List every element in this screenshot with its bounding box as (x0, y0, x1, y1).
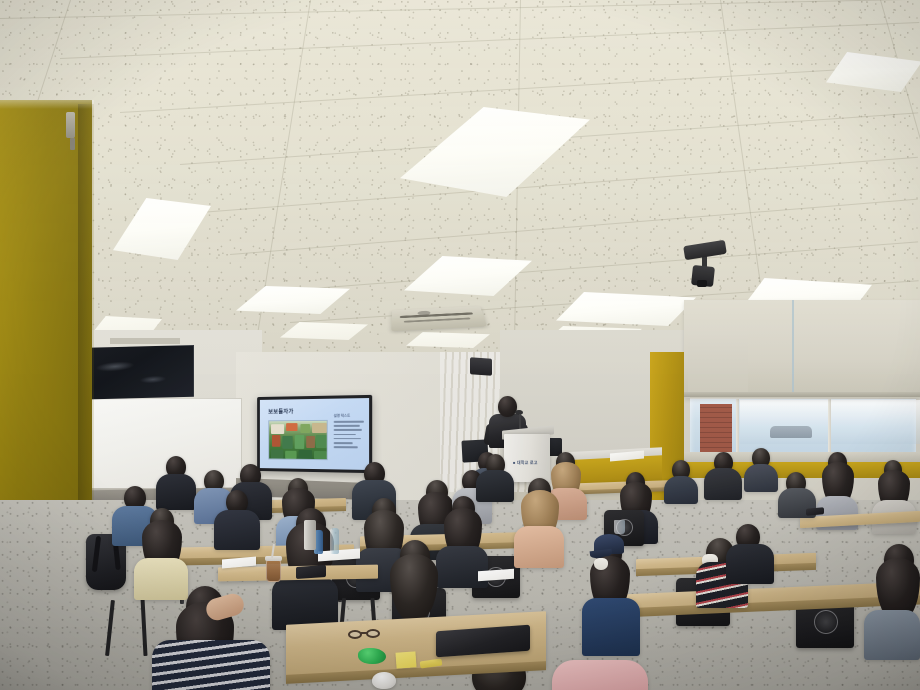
student-body (436, 546, 488, 588)
student-body (156, 474, 196, 510)
eyeglasses-lens (366, 629, 380, 638)
student-body (726, 544, 774, 584)
slide-photo (268, 420, 327, 460)
roller-blind-secondary[interactable] (688, 330, 748, 392)
eyeglasses-bridge (361, 632, 367, 634)
window-mullion (828, 398, 831, 456)
cup-lid (265, 556, 282, 561)
roller-blind-pull-cord[interactable] (792, 300, 794, 392)
face-mask (594, 558, 608, 570)
ac-vane (404, 318, 471, 323)
student-long-hair (390, 554, 438, 620)
eyeglasses-lens (348, 630, 362, 639)
clear-water-bottle (330, 528, 339, 554)
student-body (582, 598, 640, 656)
student-body (134, 558, 188, 600)
roller-blind-bottom-bar[interactable] (684, 392, 920, 397)
window-mullion (736, 398, 739, 456)
green-candy-wrapper (358, 648, 386, 664)
student-body (664, 476, 698, 504)
student-body (476, 470, 514, 502)
projector-lens-icon (697, 280, 707, 287)
computer-mouse (372, 672, 396, 689)
clear-cup (614, 520, 625, 534)
slide-caption: 설명 텍스트 (334, 413, 351, 418)
tv-mount-bracket (110, 338, 180, 344)
pillar-highlight (0, 100, 94, 109)
student-body (744, 464, 778, 492)
smartphone (296, 565, 326, 579)
projection-screen[interactable]: 보보들자가 설명 텍스트 (257, 395, 372, 473)
projection-screen-surface: 보보들자가 설명 텍스트 (260, 398, 369, 470)
podium-logo: ■ 대학교 로고 (513, 460, 538, 466)
student-body (514, 526, 564, 568)
exterior-parked-car (770, 426, 812, 438)
presenter-head (498, 396, 517, 417)
slide-body-text (334, 421, 364, 451)
door-hinge-icon (66, 112, 75, 138)
sticky-note (395, 651, 416, 668)
wall-speaker-icon (470, 357, 492, 376)
door-latch-icon (70, 138, 75, 150)
student-body (214, 510, 260, 550)
metal-tumbler (304, 520, 316, 550)
exterior-brick-wall (700, 404, 732, 452)
student-body (864, 610, 920, 660)
student-body-striped (152, 640, 270, 690)
student-body (552, 660, 648, 690)
chair-crest-emblem (814, 610, 838, 634)
student-body (704, 468, 742, 500)
iced-coffee-cup (266, 560, 281, 582)
classroom-photograph: 보보들자가 설명 텍스트 (0, 0, 920, 690)
slide-title: 보보들자가 (268, 407, 293, 415)
